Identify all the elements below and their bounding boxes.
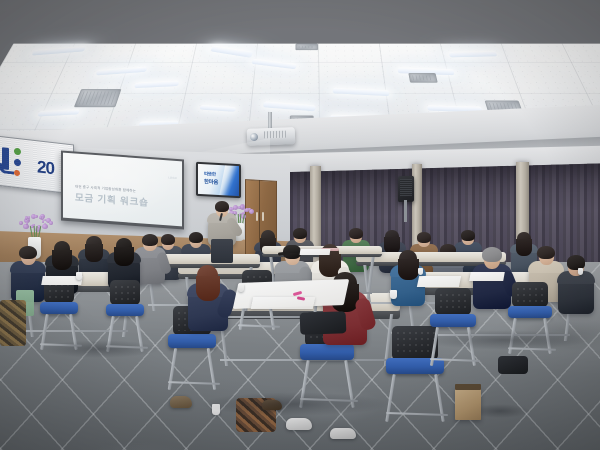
- coffee-cup-1: [76, 272, 82, 280]
- monitor-caption-line2: 한마음: [204, 177, 218, 186]
- logo-dot-blue: [14, 159, 21, 167]
- participant-back-2-hair: [293, 228, 307, 238]
- chair-left-2-seat: [106, 304, 144, 316]
- side-monitor-screen: 따뜻한 한마음: [198, 164, 239, 196]
- flower-petal-8: [19, 221, 23, 225]
- handout-right-2: [469, 272, 505, 281]
- chair-right-2-seat: [508, 306, 552, 318]
- ceiling-vent-1: [74, 89, 122, 107]
- chair-center-2-seat: [300, 344, 354, 360]
- workshop-chart-paper-2: [251, 297, 316, 309]
- ceiling-light-13: [448, 51, 497, 58]
- logo-bar-icon: [2, 147, 9, 170]
- projector-vent-icon: [264, 131, 286, 139]
- shoe-4: [330, 428, 356, 439]
- participant-back-8-hair: [161, 234, 176, 245]
- backpack-on-table: [300, 311, 347, 335]
- coffee-cup-2: [238, 284, 244, 292]
- handout-right-1: [417, 276, 461, 287]
- participant-back-green-hair: [349, 228, 363, 239]
- wall-speaker-icon: [398, 176, 414, 202]
- conference-room-photo: T 20 LOGO 대전 중구 사회적 기업활성화를 함께하는 모금 기획 워크…: [0, 0, 600, 450]
- logo-dot-green: [14, 148, 21, 156]
- door-handle-icon[interactable]: [256, 212, 258, 221]
- monitor-swoosh-graphic: [218, 164, 239, 196]
- participant-grey-hair-navy-hair: [482, 247, 502, 262]
- paper-bag-opening: [455, 384, 481, 390]
- coffee-cup-3: [390, 290, 397, 299]
- chair-right-1-seat: [430, 314, 476, 327]
- coffee-cup-4: [418, 268, 423, 275]
- flower-petal-18: [42, 224, 47, 229]
- floor-shadow-1: [40, 340, 160, 358]
- paper-bag-on-floor: [455, 388, 481, 420]
- participant-back-5-hair: [417, 232, 431, 242]
- led-banner-text: 20: [37, 157, 54, 179]
- participant-grey-knit-hair: [142, 234, 158, 246]
- coffee-cup-6: [578, 268, 583, 275]
- flower-petal-10: [26, 222, 29, 225]
- door-handle-icon-2[interactable]: [262, 212, 264, 221]
- shoe-2: [286, 418, 312, 430]
- chair-right-1-back: [435, 288, 472, 315]
- chair-left-1-seat: [40, 302, 78, 314]
- participant-cream-jacket-hair: [537, 246, 555, 260]
- handout-back-1: [300, 249, 331, 255]
- presenter-skirt: [211, 239, 233, 263]
- participant-dark-blouse-hair-long: [114, 247, 133, 267]
- floral-jacket-draped: [0, 300, 26, 346]
- table-front-left-rail: [26, 330, 128, 332]
- logo-hook-icon: [0, 163, 14, 175]
- floor-shadow-3: [420, 330, 590, 350]
- chair-center-1-seat: [168, 334, 216, 348]
- flower-petal-19: [39, 216, 42, 219]
- slide-corner-logo: LOGO: [168, 176, 177, 180]
- flower-petal-13: [238, 206, 241, 209]
- chair-center-3-seat: [386, 358, 444, 374]
- participant-blue-jacket-right-hair-long: [398, 259, 419, 280]
- logo-dot-orange: [14, 170, 20, 177]
- ceiling-vent-5: [295, 44, 318, 50]
- participant-back-6-hair: [461, 230, 475, 240]
- chair-right-2-back: [512, 282, 547, 307]
- bag-under-table: [498, 356, 528, 374]
- projection-screen: LOGO 대전 중구 사회적 기업활성화를 함께하는 모금 기획 워크숍: [63, 153, 182, 227]
- chair-left-2-back: [110, 280, 140, 305]
- participant-dark-top-left-hair-long: [52, 250, 72, 270]
- presenter-speaking-hair: [215, 201, 229, 212]
- participant-back-7-hair-long: [516, 239, 532, 255]
- ceiling-vent-2: [408, 73, 437, 83]
- participant-auburn-perm-hair-long: [196, 276, 221, 301]
- participant-navy-cardigan-hair: [19, 246, 37, 260]
- flower-petal-20: [49, 221, 53, 225]
- participant-back-9-hair: [189, 232, 203, 243]
- floor-shadow-2: [200, 392, 390, 416]
- participant-back-10-hair-long: [85, 244, 103, 262]
- shoe-1: [170, 396, 192, 408]
- speaker-stand-pole: [404, 200, 407, 222]
